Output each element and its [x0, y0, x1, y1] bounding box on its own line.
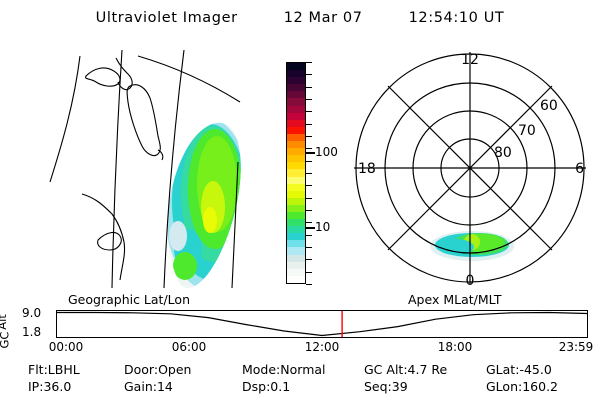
status-field-value: -45.0	[519, 362, 551, 377]
status-field-label: IP:	[28, 379, 43, 394]
status-field-value: 39	[392, 379, 408, 394]
colorbar-minor-tick	[306, 198, 312, 199]
colorbar-segment	[287, 212, 305, 219]
colorbar-minor-tick	[306, 111, 312, 112]
colorbar-minor-tick	[306, 87, 312, 88]
colorbar-segment	[287, 184, 305, 191]
colorbar-segment	[287, 70, 305, 77]
mlt-label-6: 6	[575, 161, 584, 177]
colorbar-segment	[287, 219, 305, 226]
colorbar-tick-label: 100	[315, 145, 338, 159]
uvi-quicklook-window: Ultraviolet Imager 12 Mar 07 12:54:10 UT	[0, 0, 600, 400]
colorbar-minor-tick	[306, 148, 312, 149]
intensity-colorbar: photon cm-2s-1 10010	[266, 52, 344, 292]
colorbar-tick-label: 10	[315, 220, 330, 234]
colorbar-segment	[287, 269, 305, 276]
colorbar-segment	[287, 169, 305, 176]
colorbar-segment	[287, 155, 305, 162]
colorbar-minor-tick	[306, 284, 312, 285]
colorbar-minor-tick	[306, 235, 312, 236]
colorbar-minor-tick	[306, 185, 312, 186]
status-field-value: 36.0	[43, 379, 71, 394]
status-field-label: Door:	[124, 362, 158, 377]
colorbar-segment	[287, 84, 305, 91]
status-field-value: 0.1	[270, 379, 290, 394]
colorbar-segment	[287, 177, 305, 184]
mlt-label-18: 18	[358, 161, 376, 177]
status-footer: Flt: LBHLDoor: OpenMode: NormalGC Alt: 4…	[0, 362, 600, 398]
alt-axis-label-top: Alt	[0, 314, 9, 330]
mlt-label-0: 0	[466, 273, 475, 289]
colorbar-segment	[287, 162, 305, 169]
time-tick-label: 00:00	[49, 340, 84, 354]
geo-panel-caption: Geographic Lat/Lon	[68, 292, 190, 307]
colorbar-segment	[287, 134, 305, 141]
polar-mlat-mlt-panel[interactable]: 12 18 6 0 60 70 80	[344, 42, 596, 294]
mlt-label-12: 12	[461, 52, 479, 68]
status-field-value: Normal	[280, 362, 325, 377]
header-bar: Ultraviolet Imager 12 Mar 07 12:54:10 UT	[0, 6, 600, 30]
status-field-label: Seq:	[364, 379, 392, 394]
status-field-value: 14	[157, 379, 173, 394]
colorbar-segment	[287, 91, 305, 98]
instrument-title: Ultraviolet Imager	[96, 10, 238, 26]
colorbar-segment	[287, 127, 305, 134]
mlt-spokes	[354, 52, 586, 284]
time-tick-label: 18:00	[438, 340, 473, 354]
colorbar-minor-tick	[306, 136, 312, 137]
time-tick-label: 23:59	[559, 340, 594, 354]
mlat-label-60: 60	[540, 98, 558, 114]
status-field-label: GLon:	[486, 379, 522, 394]
status-field-label: Gain:	[124, 379, 157, 394]
colorbar-minor-tick	[306, 259, 312, 260]
colorbar-minor-tick	[306, 222, 312, 223]
status-field: GLat: -45.0	[486, 362, 552, 377]
colorbar-segment	[287, 247, 305, 254]
status-field-label: Dsp:	[242, 379, 270, 394]
altitude-trace-box	[56, 310, 588, 338]
status-field-value: Open	[158, 362, 191, 377]
colorbar-minor-tick	[306, 247, 312, 248]
colorbar-segment	[287, 276, 305, 283]
colorbar-segment	[287, 240, 305, 247]
observation-time: 12:54:10 UT	[409, 10, 505, 26]
mlat-label-80: 80	[494, 145, 512, 161]
colorbar-major-tick	[306, 152, 315, 154]
status-field: IP: 36.0	[28, 379, 71, 394]
colorbar-segment	[287, 106, 305, 113]
altitude-strip-plot[interactable]: Alt GC 9.0 1.8	[0, 306, 600, 340]
status-field-value: 160.2	[522, 379, 558, 394]
colorbar-minor-tick	[306, 161, 312, 162]
polar-plot: 12 18 6 0 60 70 80	[344, 42, 596, 294]
geographic-image	[12, 44, 264, 292]
colorbar-segment	[287, 148, 305, 155]
colorbar-minor-tick	[306, 210, 312, 211]
status-field-label: GLat:	[486, 362, 519, 377]
colorbar-segment	[287, 233, 305, 240]
colorbar-minor-tick	[306, 74, 312, 75]
alt-ytick-max: 9.0	[22, 306, 41, 320]
colorbar-segment	[287, 77, 305, 84]
polar-panel-caption: Apex MLat/MLT	[408, 292, 502, 307]
status-field: Door: Open	[124, 362, 191, 377]
status-field: GLon: 160.2	[486, 379, 558, 394]
altitude-trace	[57, 311, 587, 337]
status-field-label: Mode:	[242, 362, 280, 377]
colorbar-segment	[287, 262, 305, 269]
status-field-label: GC Alt:	[364, 362, 408, 377]
time-axis-labels: 00:0006:0012:0018:0023:59	[56, 340, 588, 356]
colorbar-tick-marks: 10010	[306, 62, 344, 284]
colorbar-minor-tick	[306, 173, 312, 174]
colorbar-segment	[287, 63, 305, 70]
alt-axis-label-bottom: GC	[0, 332, 11, 349]
colorbar-segment	[287, 113, 305, 120]
alt-ytick-min: 1.8	[22, 325, 41, 339]
status-field: Dsp: 0.1	[242, 379, 290, 394]
time-tick-label: 06:00	[172, 340, 207, 354]
status-field-value: 4.7 Re	[408, 362, 448, 377]
polar-aurora-patch	[430, 231, 514, 261]
geographic-image-panel[interactable]	[12, 44, 264, 292]
observation-date: 12 Mar 07	[284, 10, 363, 26]
status-field: Gain: 14	[124, 379, 173, 394]
status-field: Mode: Normal	[242, 362, 326, 377]
colorbar-minor-tick	[306, 62, 312, 63]
colorbar-minor-tick	[306, 124, 312, 125]
time-tick-label: 12:00	[305, 340, 340, 354]
status-field-value: LBHL	[48, 362, 80, 377]
colorbar-segment	[287, 255, 305, 262]
colorbar-segment	[287, 226, 305, 233]
colorbar-minor-tick	[306, 99, 312, 100]
colorbar-major-tick	[306, 227, 315, 229]
colorbar-gradient	[286, 62, 306, 284]
status-field-label: Flt:	[28, 362, 48, 377]
status-field: GC Alt: 4.7 Re	[364, 362, 447, 377]
colorbar-minor-tick	[306, 272, 312, 273]
colorbar-segment	[287, 98, 305, 105]
colorbar-segment	[287, 141, 305, 148]
colorbar-segment	[287, 120, 305, 127]
colorbar-segment	[287, 205, 305, 212]
status-field: Seq: 39	[364, 379, 408, 394]
colorbar-segment	[287, 198, 305, 205]
status-field: Flt: LBHL	[28, 362, 80, 377]
colorbar-segment	[287, 191, 305, 198]
mlat-label-70: 70	[518, 123, 536, 139]
